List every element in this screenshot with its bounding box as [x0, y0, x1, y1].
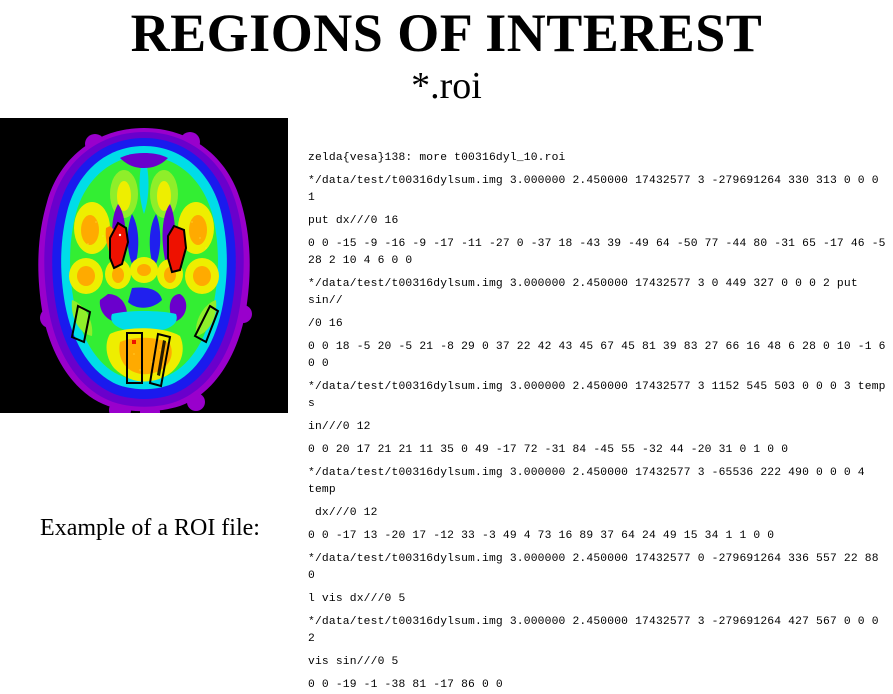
roi-file-line: */data/test/t00316dylsum.img 3.000000 2.… — [308, 551, 886, 585]
roi-file-caption: Example of a ROI file: — [0, 513, 300, 543]
roi-file-line: /0 16 — [308, 316, 886, 333]
roi-file-line: dx///0 12 — [308, 505, 886, 522]
roi-file-line: 0 0 18 -5 20 -5 21 -8 29 0 37 22 42 43 4… — [308, 339, 886, 373]
brain-scan-image — [0, 118, 288, 413]
roi-file-line: put dx///0 16 — [308, 213, 886, 230]
roi-file-line: 0 0 20 17 21 21 11 35 0 49 -17 72 -31 84… — [308, 442, 886, 459]
roi-file-line: */data/test/t00316dylsum.img 3.000000 2.… — [308, 173, 886, 207]
roi-file-line: 0 0 -15 -9 -16 -9 -17 -11 -27 0 -37 18 -… — [308, 236, 886, 270]
roi-file-line: l vis dx///0 5 — [308, 591, 886, 608]
title-block: REGIONS OF INTEREST *.roi — [0, 0, 893, 108]
roi-file-line: */data/test/t00316dylsum.img 3.000000 2.… — [308, 465, 886, 499]
roi-file-line: vis sin///0 5 — [308, 654, 886, 671]
page-title: REGIONS OF INTEREST — [0, 4, 893, 62]
roi-file-line: */data/test/t00316dylsum.img 3.000000 2.… — [308, 379, 886, 413]
roi-file-line: */data/test/t00316dylsum.img 3.000000 2.… — [308, 276, 886, 310]
roi-file-line: 0 0 -19 -1 -38 81 -17 86 0 0 — [308, 677, 886, 694]
brain-scan-svg — [0, 118, 288, 413]
page-subtitle: *.roi — [0, 64, 893, 108]
roi-file-line: zelda{vesa}138: more t00316dyl_10.roi — [308, 150, 886, 167]
roi-file-line: in///0 12 — [308, 419, 886, 436]
roi-file-line: 0 0 -17 13 -20 17 -12 33 -3 49 4 73 16 8… — [308, 528, 886, 545]
roi-file-listing: zelda{vesa}138: more t00316dyl_10.roi*/d… — [308, 150, 886, 694]
